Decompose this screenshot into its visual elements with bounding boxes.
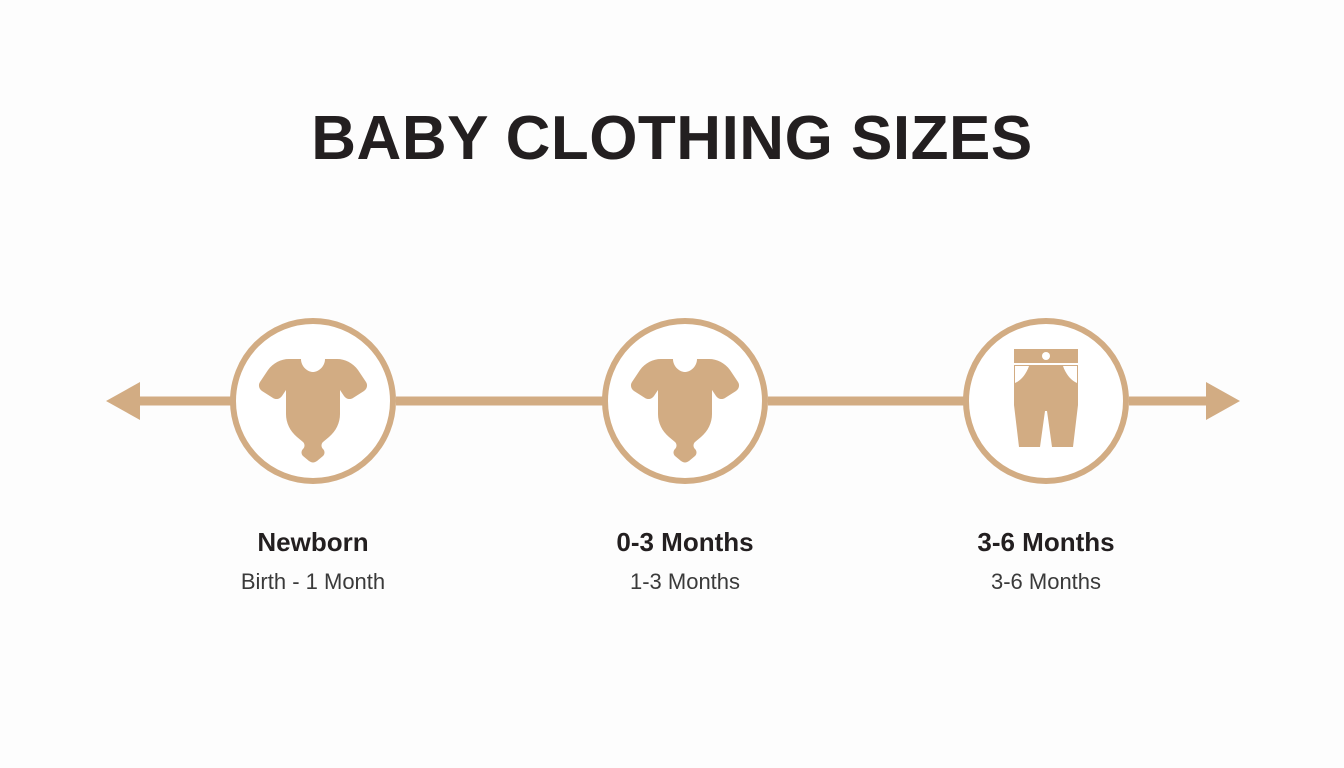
step-subtitle: 1-3 Months <box>525 569 845 595</box>
timeline-step-3[interactable] <box>966 321 1126 481</box>
timeline-step-2[interactable] <box>605 321 765 481</box>
timeline-step-1[interactable] <box>233 321 393 481</box>
arrow-right-icon <box>1206 382 1240 420</box>
step-subtitle: Birth - 1 Month <box>153 569 473 595</box>
step-subtitle: 3-6 Months <box>886 569 1206 595</box>
step-label-group-2: 0-3 Months 1-3 Months <box>525 527 845 596</box>
infographic-canvas: BABY CLOTHING SIZES <box>0 0 1344 768</box>
step-title: 0-3 Months <box>525 527 845 558</box>
step-title: 3-6 Months <box>886 527 1206 558</box>
step-title: Newborn <box>153 527 473 558</box>
timeline-graphic <box>0 0 1344 768</box>
arrow-left-icon <box>106 382 140 420</box>
step-label-group-3: 3-6 Months 3-6 Months <box>886 527 1206 596</box>
step-label-group-1: Newborn Birth - 1 Month <box>153 527 473 596</box>
